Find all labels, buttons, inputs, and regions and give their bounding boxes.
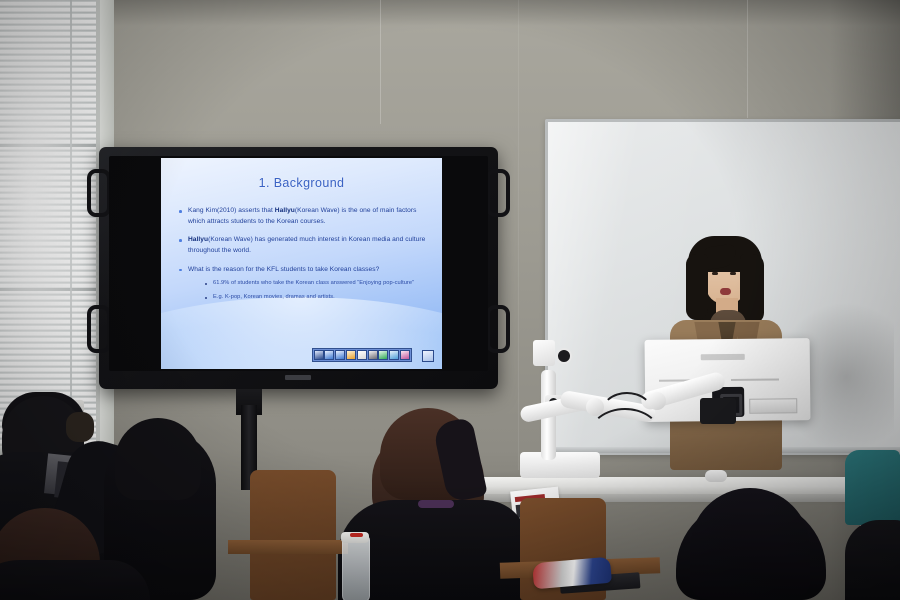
display-handle <box>486 169 510 217</box>
window-frame <box>0 0 100 448</box>
desk-surface-front <box>228 540 348 554</box>
select-cursor-icon[interactable] <box>314 350 324 360</box>
water-bottle-tab <box>350 533 363 537</box>
display-handle <box>87 305 111 353</box>
presenter-eye-right <box>730 272 736 275</box>
home-screen-icon[interactable] <box>422 350 434 362</box>
display-brand-logo <box>285 375 311 380</box>
water-bottle <box>342 536 370 600</box>
bullet-text-plain: Kang Kim(2010) asserts that <box>188 207 275 214</box>
classroom-presentation-photo: 1. Background Kang Kim(2010) asserts tha… <box>0 0 900 600</box>
presenter-hair-left <box>686 254 708 320</box>
slide-bullet-list: Kang Kim(2010) asserts that Hallyu(Korea… <box>177 206 429 311</box>
bullet-text-bold: Hallyu <box>275 207 295 214</box>
slide-bullet-2: Hallyu(Korean Wave) has generated much i… <box>177 235 429 256</box>
camera-lens-icon <box>556 348 572 364</box>
attendee-hand <box>66 412 94 442</box>
bullet-text-plain: (Korean Wave) has generated much interes… <box>188 236 425 254</box>
monitor-asset-label <box>749 398 797 414</box>
wooden-chair-back <box>250 470 336 600</box>
attendee-front-left-torso <box>0 560 150 600</box>
shape-tool-icon[interactable] <box>389 350 399 360</box>
presenter-eye-left <box>712 272 718 275</box>
line-tool-icon[interactable] <box>378 350 388 360</box>
slide-sub-bullet-1: 61.9% of students who take the Korean cl… <box>204 279 429 288</box>
attendee-collar <box>418 500 454 508</box>
monitor-brand-logo <box>701 354 745 360</box>
computer-mouse <box>705 470 727 482</box>
wall-panel-seam <box>380 0 381 124</box>
document-camera-base <box>520 452 600 478</box>
undo-arrow-icon[interactable] <box>324 350 334 360</box>
attendee-head <box>690 488 810 600</box>
slide-sub-bullet-list: 61.9% of students who take the Korean cl… <box>204 279 429 302</box>
display-screen[interactable]: 1. Background Kang Kim(2010) asserts tha… <box>109 156 488 371</box>
slide-bullet-1: Kang Kim(2010) asserts that Hallyu(Korea… <box>177 206 429 227</box>
stamp-icon[interactable] <box>400 350 410 360</box>
wall-panel-seam <box>747 0 748 118</box>
display-handle <box>87 169 111 217</box>
bullet-text-plain: What is the reason for the KFL students … <box>188 266 379 273</box>
document-camera-head <box>533 340 555 366</box>
attendee-far-right <box>845 520 900 600</box>
arm-monitor-mount <box>700 398 736 424</box>
slide-bullet-3: What is the reason for the KFL students … <box>177 265 429 303</box>
display-handle <box>486 305 510 353</box>
eraser-icon[interactable] <box>357 350 367 360</box>
highlighter-icon[interactable] <box>346 350 356 360</box>
monitor-vent <box>731 378 779 380</box>
slide-sub-bullet-2: E.g. K-pop, Korean movies, dramas and ar… <box>204 293 429 302</box>
slide-title: 1. Background <box>161 176 442 190</box>
presenter-hair-right <box>740 254 764 324</box>
window-daylight-glow <box>0 0 96 444</box>
pen-icon[interactable] <box>368 350 378 360</box>
presenter-mouth <box>720 288 731 295</box>
wall-panel-seam <box>518 0 519 470</box>
teal-office-chair <box>845 450 900 525</box>
slide-annotation-toolbar[interactable] <box>312 348 412 362</box>
bullet-text-bold: Hallyu <box>188 236 208 243</box>
ceiling-shadow <box>0 0 900 26</box>
cable <box>600 392 654 436</box>
presentation-slide[interactable]: 1. Background Kang Kim(2010) asserts tha… <box>161 158 442 369</box>
attendee-head <box>115 418 201 500</box>
flat-panel-display[interactable]: 1. Background Kang Kim(2010) asserts tha… <box>99 147 498 389</box>
redo-arrow-icon[interactable] <box>335 350 345 360</box>
